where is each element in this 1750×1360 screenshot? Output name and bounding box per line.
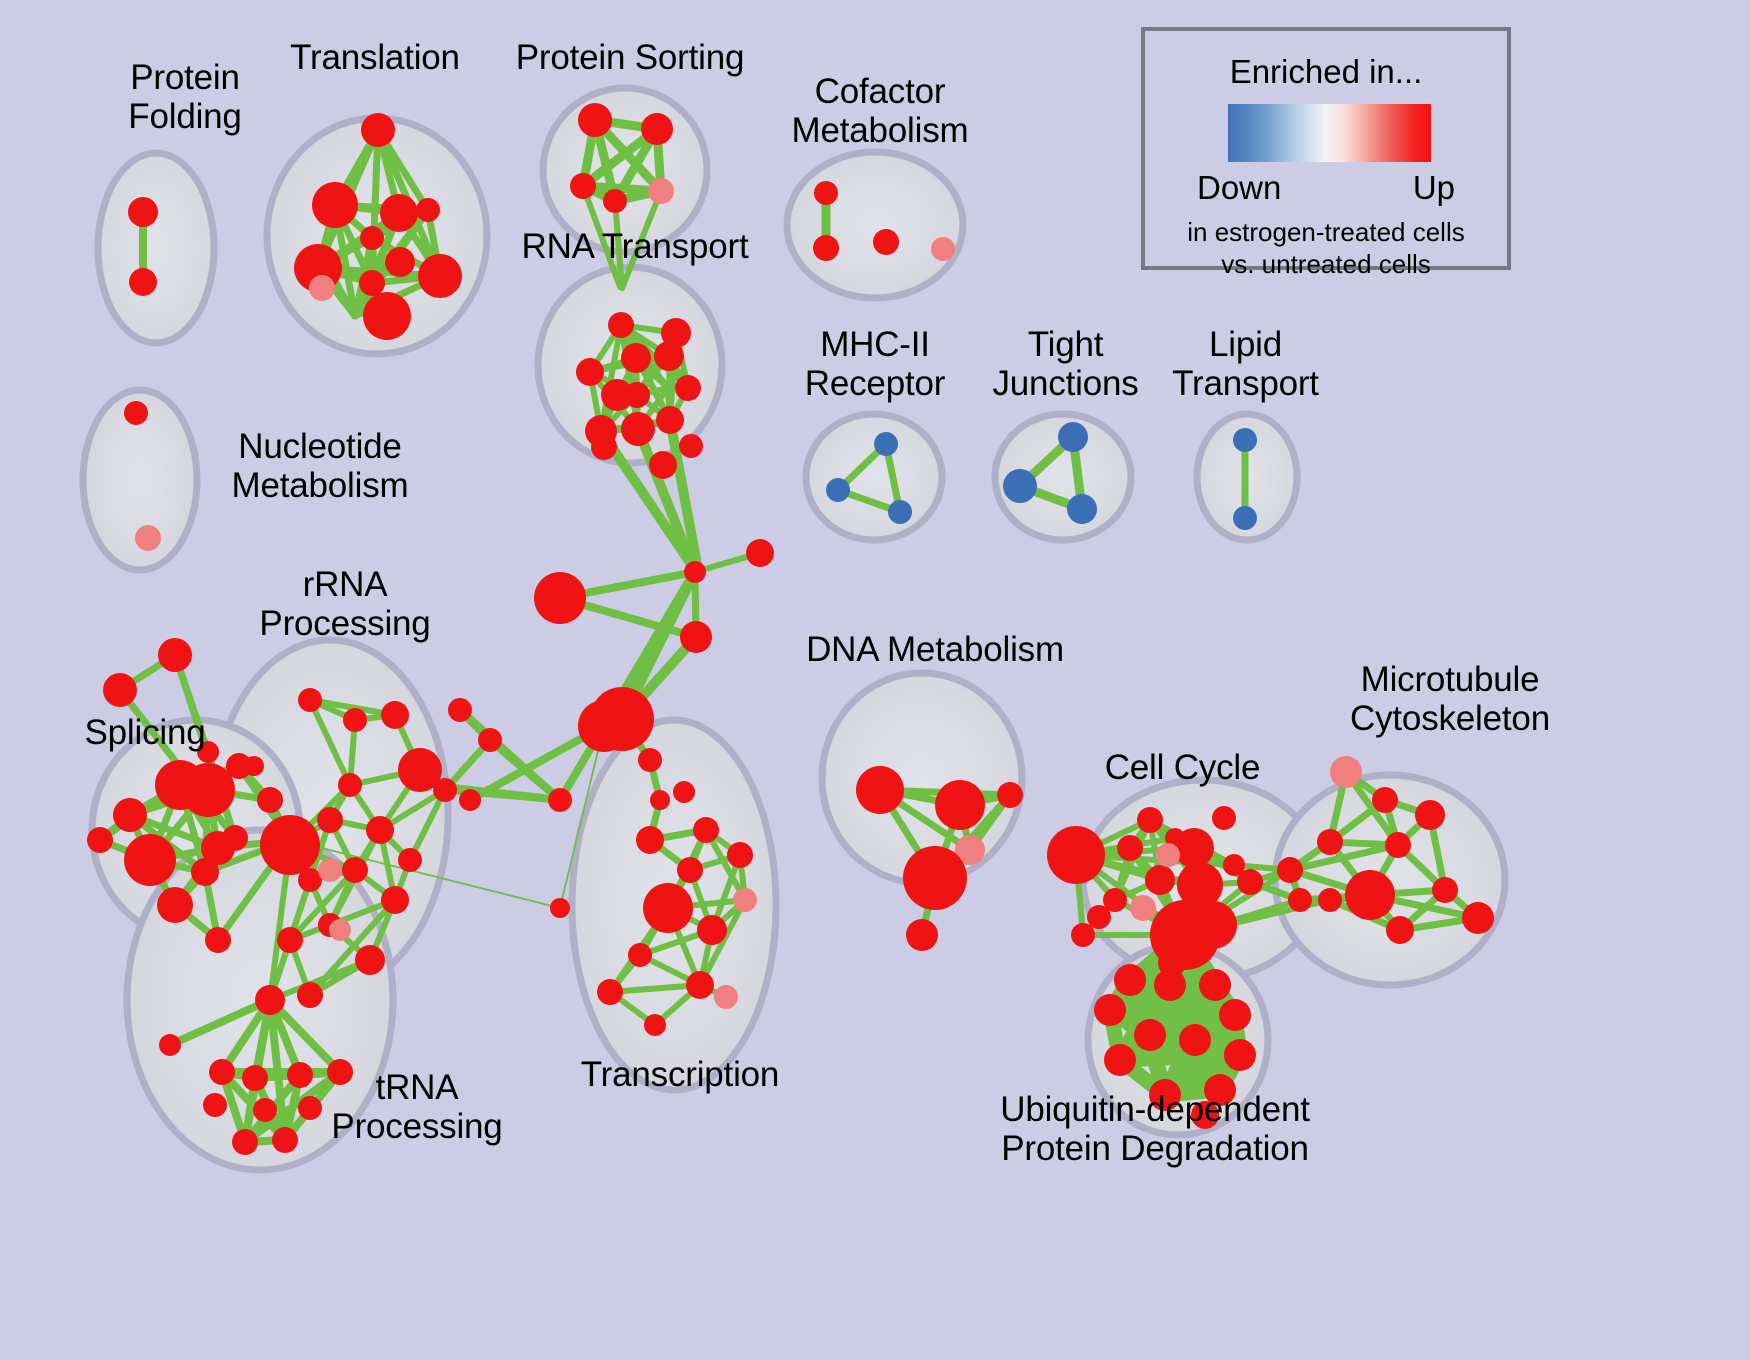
node-up (608, 312, 634, 338)
node-up-faded (1330, 756, 1362, 788)
node-up (380, 194, 418, 232)
node-up (157, 887, 193, 923)
node-up (591, 434, 617, 460)
node-up (355, 945, 385, 975)
node-up (255, 985, 285, 1015)
node-up (621, 343, 651, 373)
node-up (361, 113, 395, 147)
node-up (359, 270, 385, 296)
node-up (746, 539, 774, 567)
node-up (641, 113, 673, 145)
node-up (679, 434, 703, 458)
node-up (624, 382, 650, 408)
node-down (1067, 494, 1097, 524)
node-up (1462, 902, 1494, 934)
node-up (873, 229, 899, 255)
node-up-faded (714, 985, 738, 1009)
node-up (814, 181, 838, 205)
node-up (338, 773, 362, 797)
cluster-label-rna-transport: RNA Transport (445, 227, 825, 266)
node-up (363, 292, 411, 340)
node-down (888, 500, 912, 524)
node-up (1219, 999, 1251, 1031)
node-up (128, 197, 158, 227)
node-up (1199, 969, 1231, 1001)
node-up (578, 103, 612, 137)
node-up (459, 789, 481, 811)
hull-protein-folding (98, 153, 214, 343)
node-up (312, 182, 358, 228)
node-up (1277, 857, 1303, 883)
node-up (534, 572, 586, 624)
node-up-faded (135, 525, 161, 551)
legend-color-bar (1228, 104, 1431, 162)
node-up (654, 341, 684, 371)
cluster-label-lipid-transport: Lipid Transport (1128, 325, 1363, 403)
node-up (638, 748, 662, 772)
cluster-label-microtubule-cytoskeleton: Microtubule Cytoskeleton (1280, 660, 1620, 738)
node-up (159, 1034, 181, 1056)
node-up-faded (1156, 843, 1180, 867)
node-up-faded (733, 888, 757, 912)
legend-panel: Enriched in... Down Up in estrogen-treat… (1141, 27, 1511, 270)
legend-up-label: Up (1413, 169, 1455, 207)
legend-title: Enriched in... (1145, 53, 1507, 91)
node-up (1318, 888, 1342, 912)
node-up (643, 883, 693, 933)
node-up (209, 1059, 235, 1085)
node-up-faded (648, 178, 674, 204)
hull-cofactor-metabolism (787, 152, 963, 298)
node-down (1233, 506, 1257, 530)
node-up (433, 778, 457, 802)
node-up (113, 798, 147, 832)
node-up (550, 898, 570, 918)
node-up (1385, 832, 1411, 858)
node-up (381, 886, 409, 914)
node-up (1386, 916, 1414, 944)
node-up (1189, 901, 1237, 949)
node-up (856, 766, 904, 814)
node-up (1288, 888, 1312, 912)
node-up (1158, 949, 1186, 977)
node-up (548, 788, 572, 812)
node-up (478, 728, 502, 752)
node-up (1179, 1024, 1211, 1056)
node-up (1372, 787, 1398, 813)
node-up (1134, 1019, 1166, 1051)
node-up (277, 927, 303, 953)
node-up (636, 826, 664, 854)
node-up (997, 782, 1023, 808)
cluster-label-cell-cycle: Cell Cycle (1040, 748, 1325, 787)
node-up (232, 1129, 258, 1155)
node-down (1233, 428, 1257, 452)
node-up (103, 673, 137, 707)
node-up (677, 857, 703, 883)
node-up (1432, 877, 1458, 903)
node-up (1047, 826, 1105, 884)
cluster-label-rrna-processing: rRNA Processing (230, 565, 460, 643)
node-up-faded (309, 275, 335, 301)
node-up (1224, 1039, 1256, 1071)
node-up (727, 842, 753, 868)
node-up (697, 915, 727, 945)
node-up (242, 1065, 268, 1091)
node-up (298, 688, 322, 712)
node-up (673, 781, 695, 803)
node-up (1317, 829, 1343, 855)
node-up (621, 412, 655, 446)
node-up (124, 834, 176, 886)
node-up (603, 189, 627, 213)
node-up (1071, 923, 1095, 947)
node-up (903, 846, 967, 910)
node-up (343, 708, 367, 732)
node-up (1174, 828, 1214, 868)
node-up (1094, 994, 1126, 1026)
node-up-faded (329, 919, 351, 941)
node-up (203, 1093, 227, 1117)
node-up-faded (931, 237, 955, 261)
node-up (297, 982, 323, 1008)
enrichment-map-figure: Protein Folding Translation Protein Sort… (0, 0, 1750, 1360)
legend-subtitle-line2: vs. untreated cells (1145, 249, 1507, 281)
node-up (1145, 865, 1175, 895)
node-up (1415, 800, 1445, 830)
node-up (578, 700, 630, 752)
node-up (416, 198, 440, 222)
node-up (205, 927, 231, 953)
node-up (675, 375, 701, 401)
node-up-faded (318, 858, 342, 882)
node-up (181, 763, 235, 817)
cluster-label-dna-metabolism: DNA Metabolism (765, 630, 1105, 669)
node-up (448, 698, 472, 722)
cluster-label-splicing: Splicing (50, 713, 240, 752)
node-up (644, 1014, 666, 1036)
node-up (935, 780, 985, 830)
node-up (650, 790, 670, 810)
cluster-label-cofactor-metabolism: Cofactor Metabolism (730, 72, 1030, 150)
node-up (124, 401, 148, 425)
legend-subtitle: in estrogen-treated cells vs. untreated … (1145, 217, 1507, 280)
node-down (1003, 469, 1037, 503)
cluster-label-ubiquitin-protein-degradation: Ubiquitin-dependent Protein Degradation (935, 1090, 1375, 1168)
node-up (1117, 835, 1143, 861)
node-up (260, 815, 320, 875)
cluster-label-transcription: Transcription (510, 1055, 850, 1094)
node-up-faded (1130, 895, 1156, 921)
node-up (222, 825, 248, 851)
node-up (342, 857, 368, 883)
node-up (1087, 905, 1111, 929)
node-up (656, 406, 684, 434)
node-up (628, 943, 652, 967)
node-up (360, 226, 384, 250)
cluster-label-nucleotide-metabolism: Nucleotide Metabolism (175, 427, 465, 505)
node-up (597, 979, 623, 1005)
node-up (1114, 964, 1146, 996)
node-down (1058, 422, 1088, 452)
node-up (244, 756, 264, 776)
node-up (253, 1098, 277, 1122)
node-up (684, 561, 706, 583)
node-up (1104, 1044, 1136, 1076)
legend-subtitle-line1: in estrogen-treated cells (1145, 217, 1507, 249)
node-up (398, 848, 422, 872)
node-up (366, 816, 394, 844)
node-up (1137, 807, 1163, 833)
legend-down-label: Down (1197, 169, 1281, 207)
node-up (906, 919, 938, 951)
node-up (87, 827, 113, 853)
node-up (129, 268, 157, 296)
node-up (158, 638, 192, 672)
node-up (570, 173, 596, 199)
node-up (1212, 806, 1236, 830)
hull-mhc-ii-receptor (806, 414, 942, 540)
node-up (576, 358, 604, 386)
node-up (693, 817, 719, 843)
node-up (680, 621, 712, 653)
node-up (191, 858, 219, 886)
node-up (1345, 870, 1395, 920)
node-down (826, 478, 850, 502)
node-down (874, 432, 898, 456)
node-up (649, 451, 677, 479)
node-up (257, 787, 283, 813)
cluster-label-trna-processing: tRNA Processing (292, 1068, 542, 1146)
node-up (1237, 869, 1263, 895)
node-up (686, 971, 714, 999)
node-up (385, 247, 415, 277)
node-up (381, 701, 409, 729)
node-up (317, 807, 343, 833)
